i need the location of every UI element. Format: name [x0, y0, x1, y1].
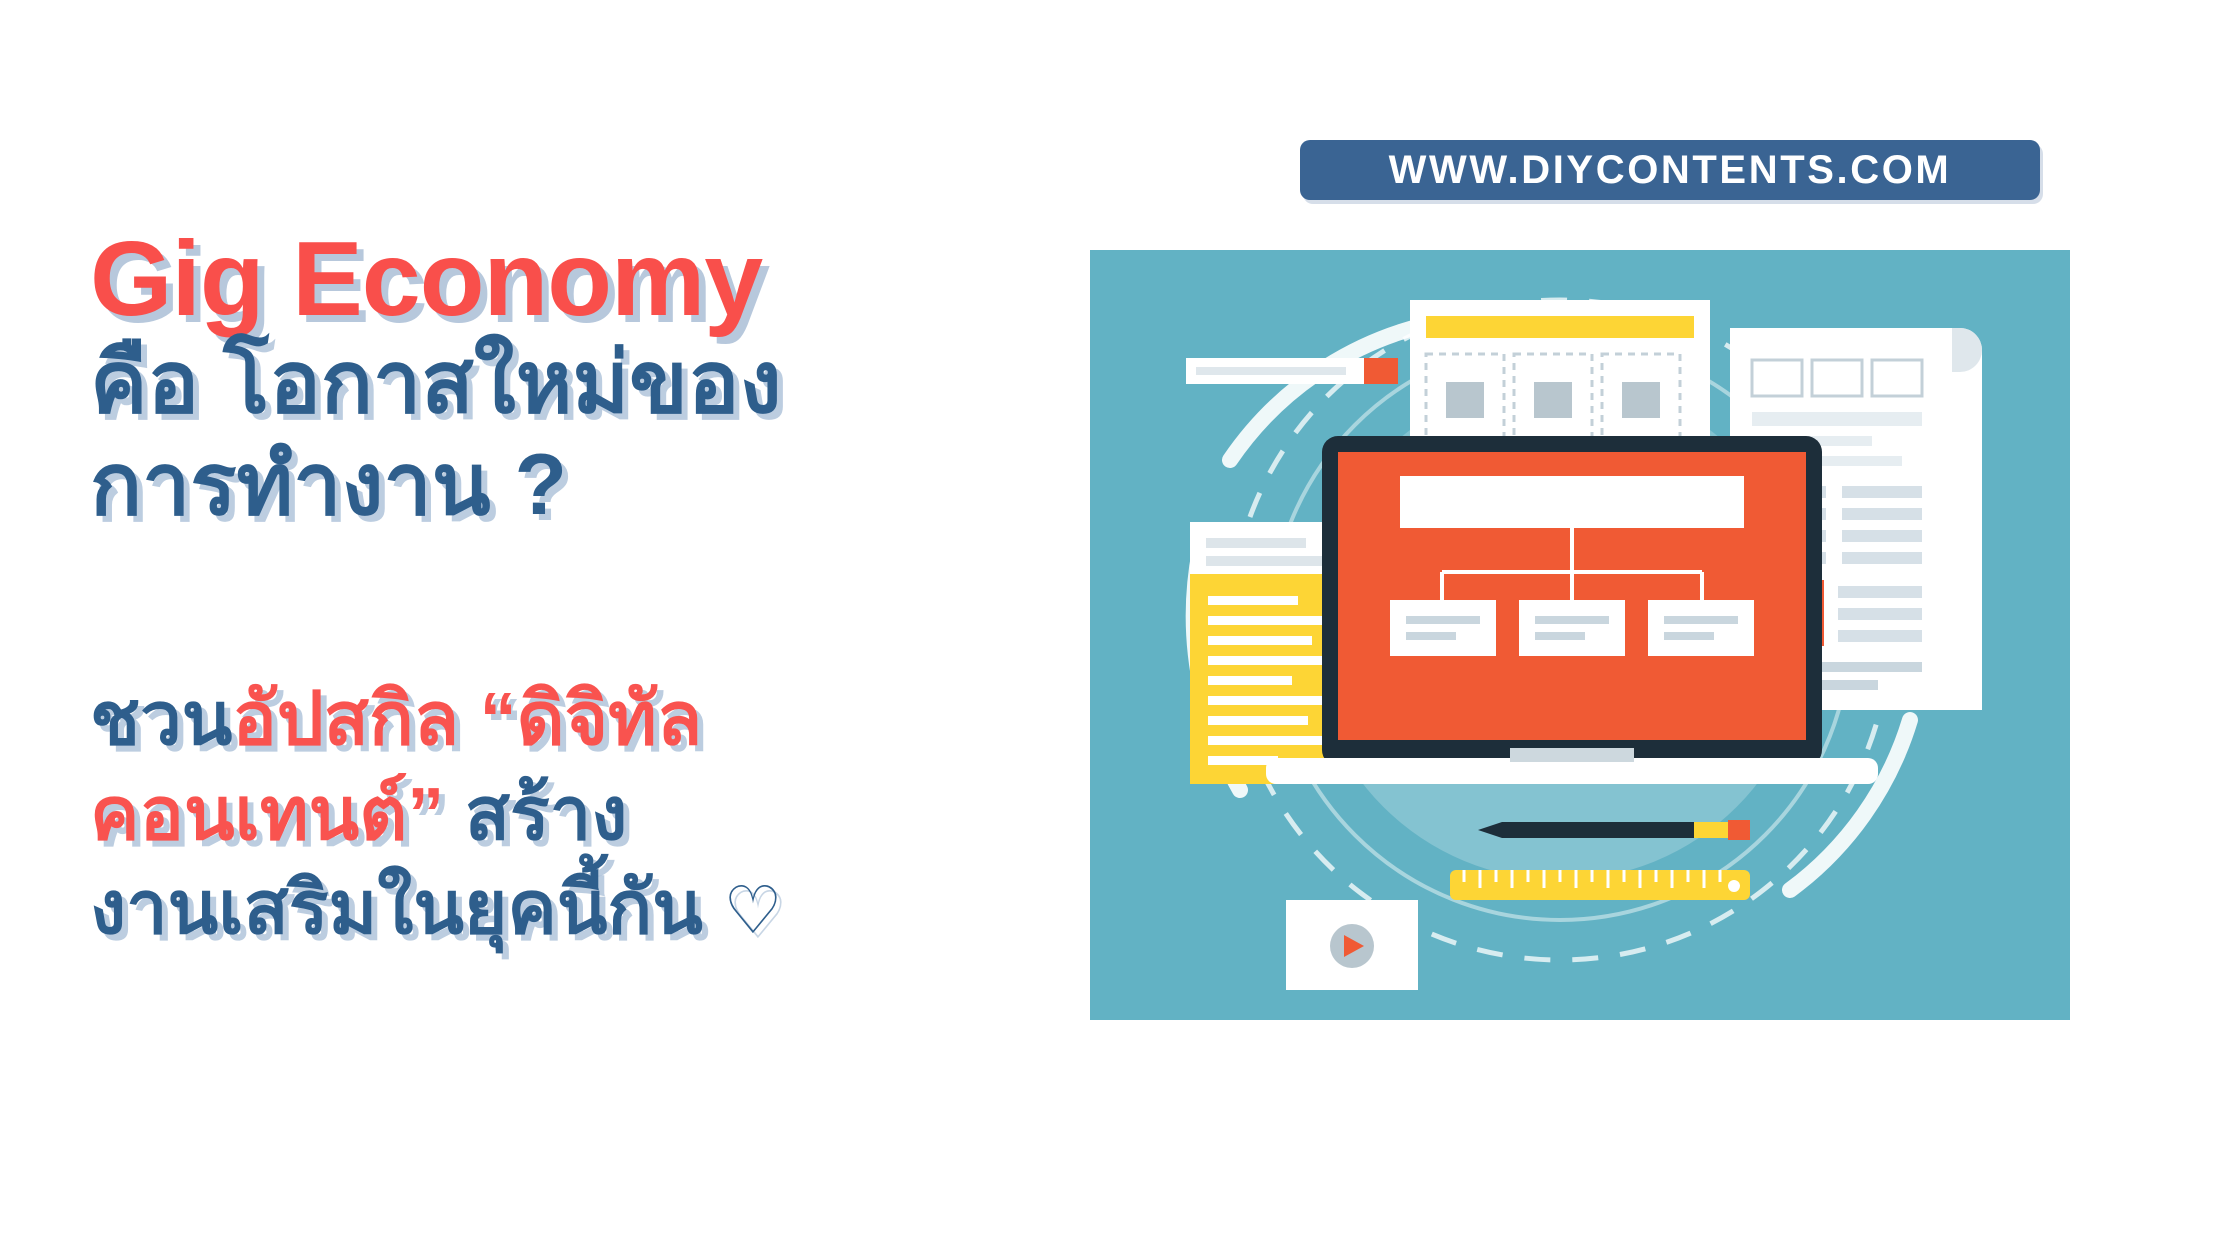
headline-block: Gig Economy คือ โอกาสใหม่ของ การทำงาน ? — [90, 225, 1090, 536]
subheadline-line-3-text: งานเสริมในยุคนี้กัน — [90, 866, 703, 949]
subheadline-line-3: งานเสริมในยุคนี้กัน ♡ — [90, 861, 1110, 956]
subheadline-line-1-highlight: อัปสกิล “ดิจิทัล — [232, 677, 702, 760]
poster-canvas: WWW.DIYCONTENTS.COM Gig Economy คือ โอกา… — [0, 0, 2240, 1260]
subheadline-line-2: คอนเทนต์” สร้าง — [90, 767, 1110, 862]
website-url-text: WWW.DIYCONTENTS.COM — [1389, 148, 1952, 193]
subheadline-line-2-plain: สร้าง — [465, 772, 628, 855]
progress-bar — [1186, 358, 1398, 384]
laptop — [1266, 436, 1878, 784]
pencil-icon — [1478, 820, 1750, 840]
video-play-card[interactable] — [1286, 900, 1418, 990]
headline-thai-line-1: คือ โอกาสใหม่ของ — [90, 333, 1090, 434]
headline-english: Gig Economy — [90, 225, 1090, 333]
subheadline-line-1-plain: ชวน — [90, 677, 232, 760]
headline-thai-line-2: การทำงาน ? — [90, 435, 1090, 536]
website-url-badge[interactable]: WWW.DIYCONTENTS.COM — [1300, 140, 2040, 200]
heart-icon: ♡ — [723, 873, 782, 947]
subheadline-block: ชวนอัปสกิล “ดิจิทัล คอนเทนต์” สร้าง งานเ… — [90, 672, 1110, 956]
digital-content-illustration — [1090, 250, 2070, 1020]
subheadline-line-1: ชวนอัปสกิล “ดิจิทัล — [90, 672, 1110, 767]
subheadline-line-2-highlight: คอนเทนต์” — [90, 772, 444, 855]
ruler-icon — [1450, 870, 1750, 900]
illustration-svg — [1090, 250, 2070, 1020]
